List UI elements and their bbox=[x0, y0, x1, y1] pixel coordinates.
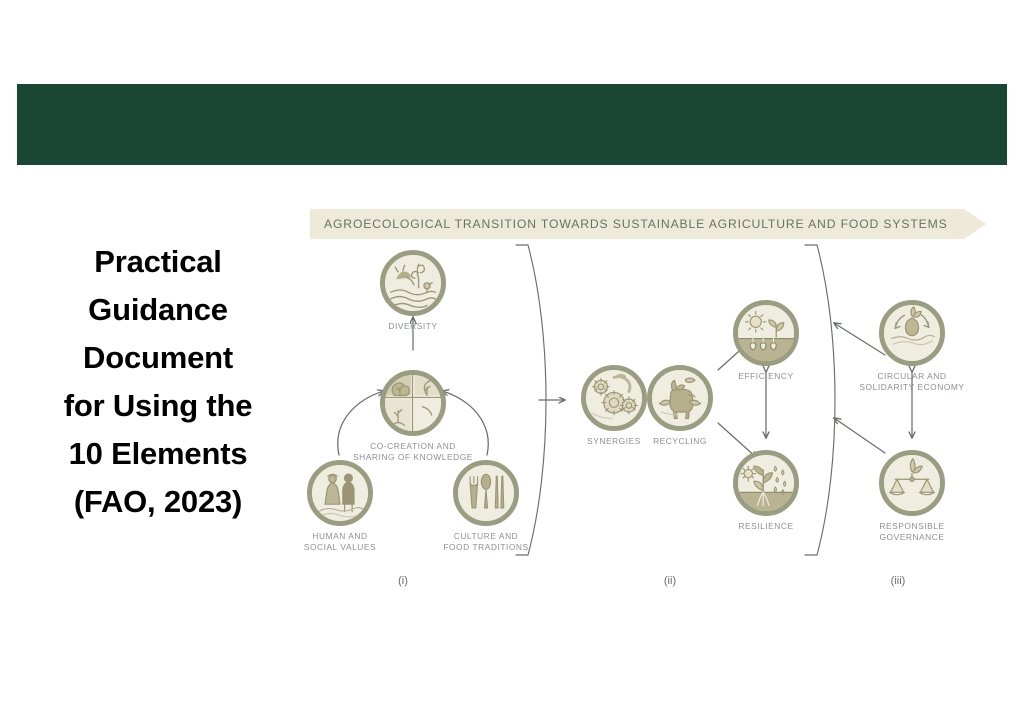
bracket-group-ii bbox=[805, 245, 835, 555]
arrow-governance-to-bracket bbox=[834, 418, 885, 453]
element-caption: RESILIENCE bbox=[701, 521, 831, 532]
element-caption: RESPONSIBLE GOVERNANCE bbox=[847, 521, 977, 542]
ten-elements-diagram: AGROECOLOGICAL TRANSITION TOWARDS SUSTAI… bbox=[300, 195, 1000, 605]
human-social-values-icon bbox=[307, 460, 373, 526]
element-caption: DIVERSITY bbox=[348, 321, 478, 332]
bracket-group-i bbox=[516, 245, 546, 555]
circular-economy-icon bbox=[879, 300, 945, 366]
element-caption: CO-CREATION AND SHARING OF KNOWLEDGE bbox=[348, 441, 478, 462]
slide-canvas: Practical Guidance Document for Using th… bbox=[0, 0, 1024, 724]
transition-banner: AGROECOLOGICAL TRANSITION TOWARDS SUSTAI… bbox=[310, 209, 986, 239]
synergies-icon bbox=[581, 365, 647, 431]
element-caption: HUMAN AND SOCIAL VALUES bbox=[275, 531, 405, 552]
element-caption: CIRCULAR AND SOLIDARITY ECONOMY bbox=[847, 371, 977, 392]
resilience-icon bbox=[733, 450, 799, 516]
banner-label: AGROECOLOGICAL TRANSITION TOWARDS SUSTAI… bbox=[324, 209, 956, 239]
group-label-ii: (ii) bbox=[664, 575, 676, 587]
group-label-iii: (iii) bbox=[891, 575, 906, 587]
page-title: Practical Guidance Document for Using th… bbox=[22, 238, 294, 526]
arrow-circular-economy-to-bracket bbox=[834, 323, 885, 355]
group-label-i: (i) bbox=[398, 575, 408, 587]
efficiency-icon bbox=[733, 300, 799, 366]
header-band bbox=[17, 84, 1007, 165]
element-caption: EFFICIENCY bbox=[701, 371, 831, 382]
diversity-icon bbox=[380, 250, 446, 316]
responsible-governance-icon bbox=[879, 450, 945, 516]
culture-food-traditions-icon bbox=[453, 460, 519, 526]
co-creation-icon bbox=[380, 370, 446, 436]
element-caption: RECYCLING bbox=[615, 436, 745, 447]
element-caption: CULTURE AND FOOD TRADITIONS bbox=[421, 531, 551, 552]
